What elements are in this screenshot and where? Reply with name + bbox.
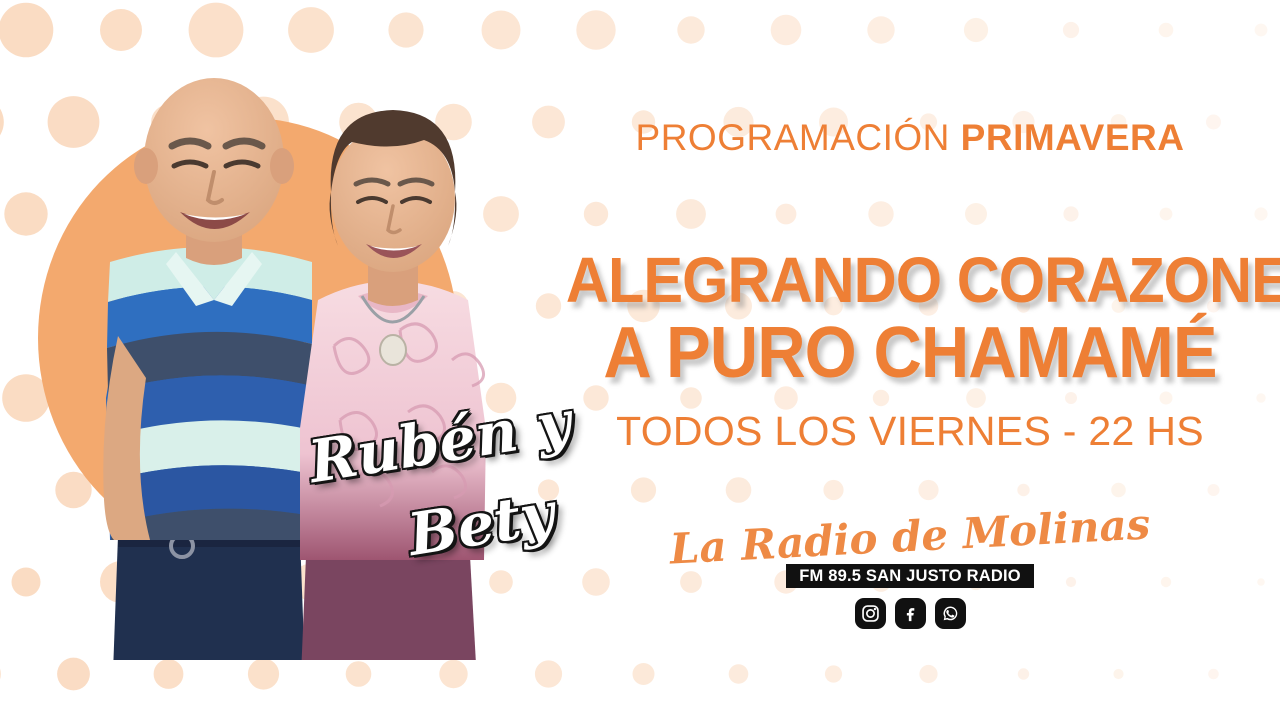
person-bety [300, 110, 489, 700]
person-ruben [100, 78, 312, 700]
facebook-icon[interactable] [895, 598, 926, 629]
headline-line-2: A PURO CHAMAMÉ [566, 312, 1254, 394]
kicker-bold: PRIMAVERA [961, 117, 1185, 158]
kicker-line: PROGRAMACIÓN PRIMAVERA [540, 117, 1280, 159]
copy-column: PROGRAMACIÓN PRIMAVERA ALEGRANDO CORAZON… [540, 0, 1280, 720]
station-logo: La Radio de Molinas FM 89.5 SAN JUSTO RA… [540, 512, 1280, 642]
whatsapp-icon[interactable] [935, 598, 966, 629]
social-links [540, 598, 1280, 629]
headline-line-1: ALEGRANDO CORAZONES [566, 243, 1254, 317]
fm-frequency-text: FM 89.5 SAN JUSTO RADIO [799, 567, 1021, 586]
hosts-photo-illustration [0, 0, 560, 720]
hosts-photo [0, 0, 560, 720]
poster-canvas: Rubén y Bety PROGRAMACIÓN PRIMAVERA ALEG… [0, 0, 1280, 720]
instagram-icon[interactable] [855, 598, 886, 629]
kicker-thin: PROGRAMACIÓN [636, 117, 950, 158]
fm-frequency-bar: FM 89.5 SAN JUSTO RADIO [786, 564, 1034, 588]
schedule-line: TODOS LOS VIERNES - 22 HS [540, 408, 1280, 455]
